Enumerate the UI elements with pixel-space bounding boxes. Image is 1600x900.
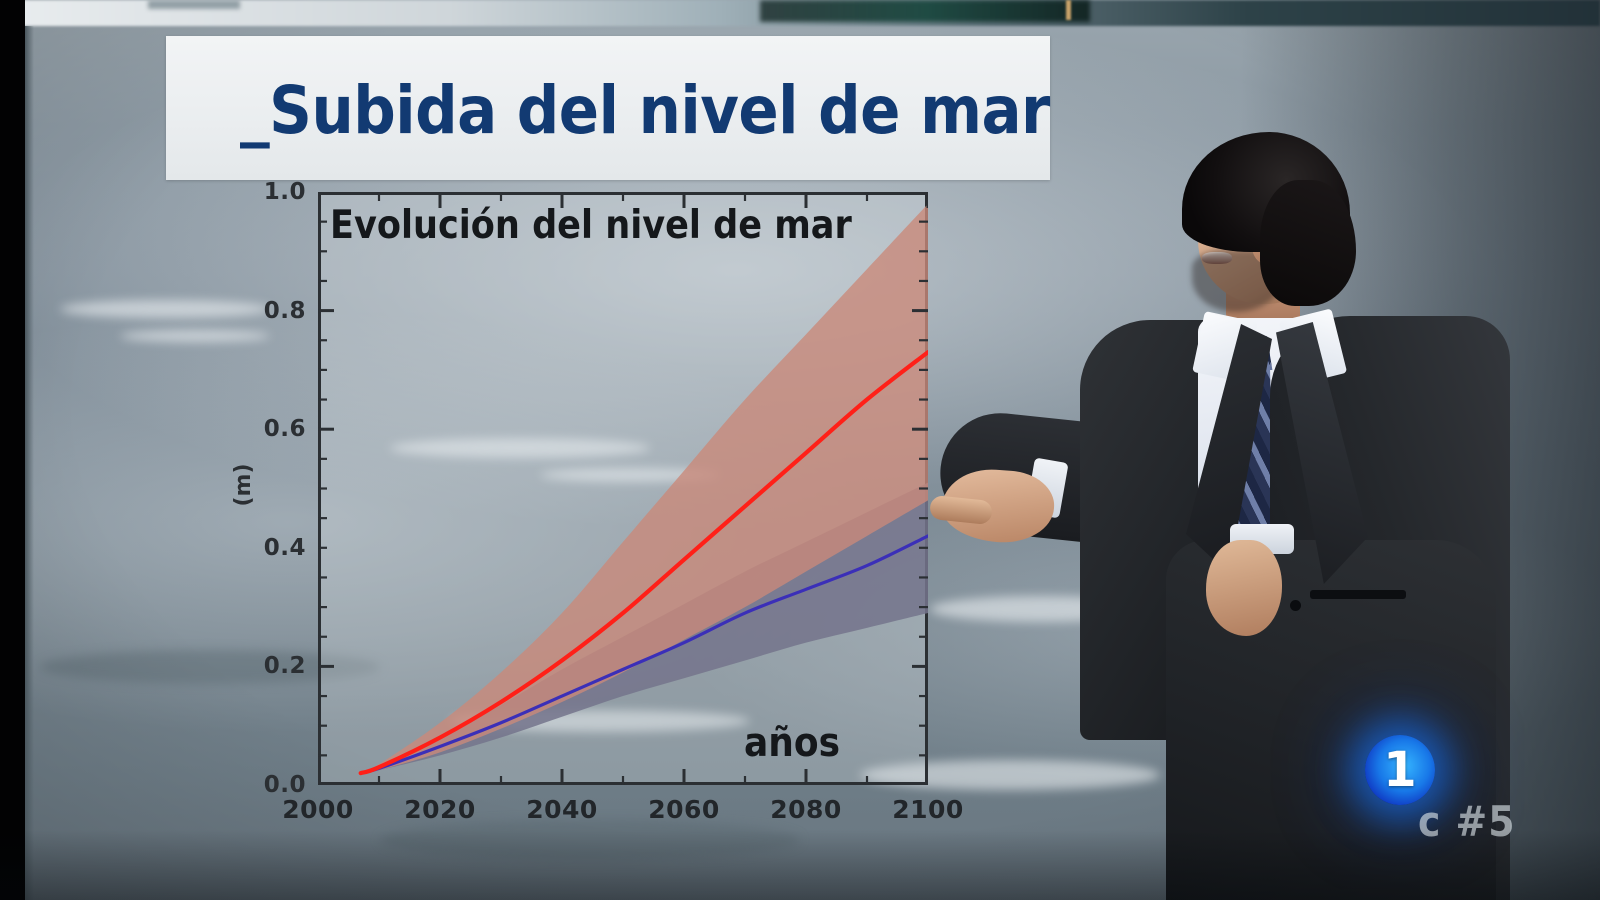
chart-x-tick-label: 2080 bbox=[770, 795, 842, 824]
channel-number-label: 1 bbox=[1365, 735, 1435, 805]
chart-y-tick-label: 1.0 bbox=[264, 179, 306, 205]
chart-svg bbox=[318, 192, 928, 785]
background-top-stick bbox=[1066, 0, 1071, 20]
sea-level-chart bbox=[318, 192, 928, 785]
chart-y-tick-label: 0.4 bbox=[264, 535, 306, 561]
presenter-figure bbox=[930, 120, 1530, 900]
presenter-breast-pocket bbox=[1310, 590, 1406, 599]
presenter-right-hand bbox=[1206, 540, 1282, 636]
left-black-border bbox=[0, 0, 25, 900]
chart-x-tick-label: 2020 bbox=[404, 795, 476, 824]
chart-x-tick-label: 2060 bbox=[648, 795, 720, 824]
chart-y-tick-label: 0.6 bbox=[264, 416, 306, 442]
chart-y-tick-label: 0.8 bbox=[264, 298, 306, 324]
background-top-green-smear bbox=[760, 0, 1090, 22]
chart-x-axis-caption: años bbox=[744, 722, 840, 764]
chart-x-tick-label: 2000 bbox=[282, 795, 354, 824]
left-border-gradient bbox=[25, 26, 34, 900]
presenter-hair-side bbox=[1260, 180, 1356, 306]
chart-x-axis-labels: 200020202040206020802100 bbox=[318, 795, 928, 835]
la-1-channel-logo: 1 bbox=[1365, 735, 1435, 805]
bottom-fade bbox=[0, 830, 1600, 900]
background-top-chip bbox=[148, 0, 240, 9]
chart-y-tick-label: 0.2 bbox=[264, 653, 306, 679]
broadcast-frame: _Subida del nivel de mar 0.00.20.40.60.8… bbox=[0, 0, 1600, 900]
presenter-jacket-button bbox=[1290, 600, 1301, 611]
chart-x-tick-label: 2040 bbox=[526, 795, 598, 824]
chart-title: Evolución del nivel de mar bbox=[330, 205, 852, 247]
chart-y-axis-title: (m) bbox=[214, 455, 274, 515]
chart-uncertainty-bands bbox=[361, 204, 928, 773]
